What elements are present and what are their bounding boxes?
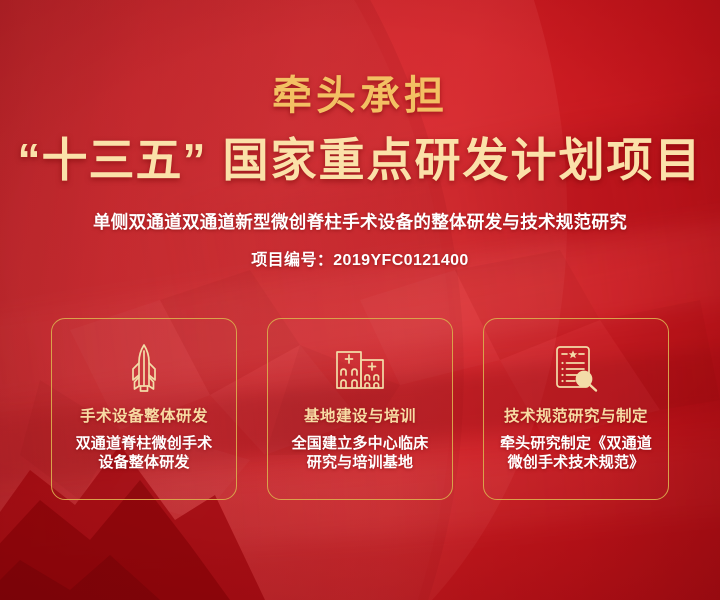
card-description: 双通道脊柱微创手术 设备整体研发 (68, 434, 221, 474)
project-number: 项目编号：2019YFC0121400 (0, 246, 720, 270)
hospital-building-icon (333, 343, 387, 393)
card-description-line: 双通道脊柱微创手术 (76, 434, 213, 454)
page-title: “十三五”国家重点研发计划项目 (0, 136, 720, 186)
card-list: 手术设备整体研发 双通道脊柱微创手术 设备整体研发 (51, 318, 669, 500)
card-item[interactable]: 技术规范研究与制定 牵头研究制定《双通道 微创手术技术规范》 (483, 318, 669, 500)
card-title: 技术规范研究与制定 (504, 409, 648, 425)
card-description-line: 全国建立多中心临床 (292, 434, 429, 454)
card-description-line: 研究与培训基地 (292, 453, 429, 473)
card-description: 全国建立多中心临床 研究与培训基地 (284, 434, 437, 474)
card-description-line: 微创手术技术规范》 (500, 453, 652, 473)
poster-banner: 牵头承担 “十三五”国家重点研发计划项目 单侧双通道双通道新型微创脊柱手术设备的… (0, 0, 720, 600)
card-description-line: 牵头研究制定《双通道 (500, 434, 652, 454)
headline-quoted: “十三五” (18, 134, 207, 186)
subtitle-text: 单侧双通道双通道新型微创脊柱手术设备的整体研发与技术规范研究 (0, 212, 720, 233)
card-item[interactable]: 基地建设与培训 全国建立多中心临床 研究与培训基地 (267, 318, 453, 500)
card-title: 基地建设与培训 (304, 409, 416, 425)
rocket-icon (121, 343, 167, 393)
eyebrow-text: 牵头承担 (0, 76, 720, 116)
card-item[interactable]: 手术设备整体研发 双通道脊柱微创手术 设备整体研发 (51, 318, 237, 500)
card-title: 手术设备整体研发 (80, 409, 208, 425)
card-description-line: 设备整体研发 (76, 453, 213, 473)
document-magnifier-icon (551, 343, 601, 393)
card-description: 牵头研究制定《双通道 微创手术技术规范》 (492, 434, 660, 474)
headline-rest: 国家重点研发计划项目 (223, 134, 703, 186)
